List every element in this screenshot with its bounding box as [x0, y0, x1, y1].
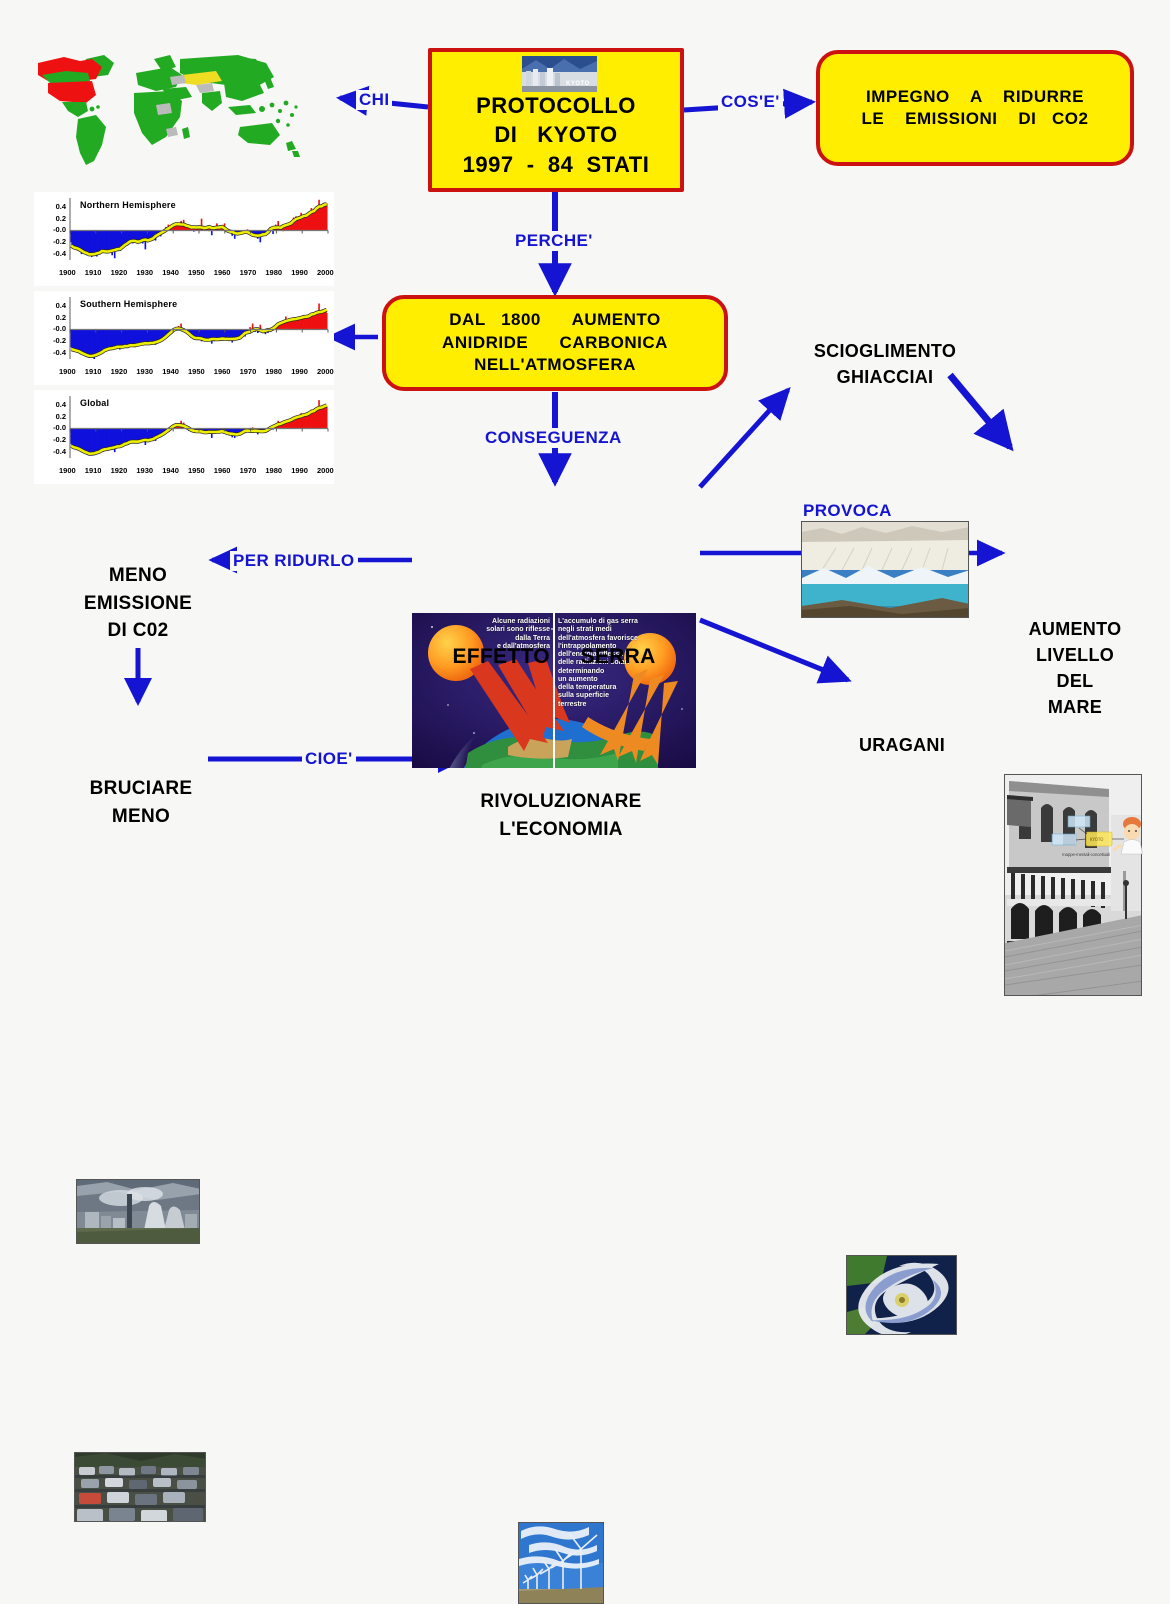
chart-0-xtick: 1970	[240, 268, 257, 277]
chart-0-xtick: 1930	[136, 268, 153, 277]
chart-0-ytick: -0.0	[34, 225, 66, 234]
commitment-line-1: IMPEGNO A RIDURRE	[866, 86, 1084, 108]
chart-2-ytick: -0.2	[34, 435, 66, 444]
climate-chart-1: Southern Hemisphere0.40.2-0.0-0.2-0.4190…	[34, 291, 334, 385]
chart-2-ytick: -0.0	[34, 423, 66, 432]
chart-2-xtick: 1940	[162, 466, 179, 475]
chart-2-xtick: 1920	[111, 466, 128, 475]
chart-1-xtick: 1980	[265, 367, 282, 376]
burn-less-image	[74, 1452, 206, 1522]
chart-2-ytick: 0.4	[34, 400, 66, 409]
chart-0-xtick: 1940	[162, 268, 179, 277]
co2-line-3: NELL'ATMOSFERA	[474, 354, 636, 376]
node-co2-increase[interactable]: DAL 1800 AUMENTO ANIDRIDE CARBONICA NELL…	[382, 295, 728, 391]
chart-0-xtick: 2000	[317, 268, 334, 277]
chart-1-xtick: 2000	[317, 367, 334, 376]
chart-1-xtick: 1920	[111, 367, 128, 376]
chart-2-xtick: 1990	[291, 466, 308, 475]
chart-plot-0	[34, 192, 334, 286]
sea-level-caption: AUMENTO LIVELLO DEL MARE	[1000, 616, 1150, 720]
chart-0-xtick: 1950	[188, 268, 205, 277]
connector-label-per-ridurlo: PER RIDURLO	[230, 551, 358, 571]
burn-less-caption: BRUCIARE MENO	[62, 775, 220, 830]
chart-1-ytick: 0.2	[34, 313, 66, 322]
chart-0-ytick: 0.2	[34, 214, 66, 223]
climate-charts-group: Northern Hemisphere0.40.2-0.0-0.2-0.4190…	[34, 192, 334, 482]
chart-0-xtick: 1960	[214, 268, 231, 277]
chart-0-xtick: 1900	[59, 268, 76, 277]
chart-2-xtick: 1950	[188, 466, 205, 475]
revolution-image	[518, 1522, 604, 1604]
chart-0-xtick: 1990	[291, 268, 308, 277]
climate-chart-2: Global0.40.2-0.0-0.2-0.41900191019201930…	[34, 390, 334, 484]
sea-level-image	[1004, 774, 1142, 996]
chart-2-xtick: 1930	[136, 466, 153, 475]
kyoto-thumbnail-image: KYOTO	[522, 56, 597, 92]
chart-title-2: Global	[80, 398, 109, 408]
chart-2-xtick: 1900	[59, 466, 76, 475]
node-commitment[interactable]: IMPEGNO A RIDURRE LE EMISSIONI DI CO2	[816, 50, 1134, 166]
world-map-image	[30, 45, 325, 175]
kyoto-line-3: 1997 - 84 STATI	[463, 150, 650, 179]
less-emissions-caption: MENO EMISSIONE DI C02	[60, 562, 216, 645]
svg-text:KYOTO: KYOTO	[1090, 837, 1103, 842]
chart-2-xtick: 1960	[214, 466, 231, 475]
chart-0-ytick: -0.4	[34, 249, 66, 258]
hurricanes-caption: URAGANI	[836, 732, 968, 758]
chart-1-ytick: -0.4	[34, 348, 66, 357]
connector-label-cioe: CIOE'	[302, 749, 356, 769]
node-kyoto-protocol[interactable]: KYOTO PROTOCOLLO DI KYOTO 1997 - 84 STAT…	[428, 48, 684, 192]
chart-2-ytick: 0.2	[34, 412, 66, 421]
glaciers-caption: SCIOGLIMENTO GHIACCIAI	[790, 338, 980, 390]
greenhouse-effect-image: Alcune radiazioni solari sono riflesse d…	[412, 613, 696, 768]
co2-line-2: ANIDRIDE CARBONICA	[442, 332, 668, 354]
connector-label-perche: PERCHE'	[512, 231, 596, 251]
chart-1-ytick: 0.4	[34, 301, 66, 310]
revolution-caption: RIVOLUZIONARE L'ECONOMIA	[470, 788, 652, 843]
chart-0-ytick: -0.2	[34, 237, 66, 246]
chart-2-xtick: 1970	[240, 466, 257, 475]
chart-1-xtick: 1910	[85, 367, 102, 376]
connector-label-chi: CHI	[356, 90, 392, 110]
watermark-caption: mappe-mentali-concettuali	[1062, 852, 1110, 857]
co2-line-1: DAL 1800 AUMENTO	[449, 309, 660, 331]
greenhouse-caption: EFFETTO SERRA	[412, 642, 696, 672]
hurricanes-image	[846, 1255, 957, 1335]
chart-1-ytick: -0.0	[34, 324, 66, 333]
chart-2-ytick: -0.4	[34, 447, 66, 456]
chart-1-xtick: 1960	[214, 367, 231, 376]
connector-label-cose: COS'E'	[718, 92, 783, 112]
commitment-line-2: LE EMISSIONI DI CO2	[862, 108, 1089, 130]
glaciers-image	[801, 521, 969, 618]
chart-title-1: Southern Hemisphere	[80, 299, 177, 309]
chart-2-xtick: 1910	[85, 466, 102, 475]
chart-plot-1	[34, 291, 334, 385]
chart-0-ytick: 0.4	[34, 202, 66, 211]
chart-0-xtick: 1920	[111, 268, 128, 277]
kyoto-line-2: DI KYOTO	[494, 120, 617, 149]
chart-2-xtick: 1980	[265, 466, 282, 475]
kyoto-thumbnail-caption: KYOTO	[566, 81, 590, 87]
chart-1-xtick: 1950	[188, 367, 205, 376]
climate-chart-0: Northern Hemisphere0.40.2-0.0-0.2-0.4190…	[34, 192, 334, 286]
chart-1-xtick: 1940	[162, 367, 179, 376]
chart-2-xtick: 2000	[317, 466, 334, 475]
concept-map-canvas: KYOTO PROTOCOLLO DI KYOTO 1997 - 84 STAT…	[0, 0, 1170, 870]
chart-1-xtick: 1990	[291, 367, 308, 376]
chart-1-xtick: 1900	[59, 367, 76, 376]
chart-plot-2	[34, 390, 334, 484]
chart-1-xtick: 1970	[240, 367, 257, 376]
kyoto-line-1: PROTOCOLLO	[476, 91, 636, 120]
chart-0-xtick: 1980	[265, 268, 282, 277]
chart-1-ytick: -0.2	[34, 336, 66, 345]
watermark-logo: KYOTO mappe-mentali-concettuali	[1050, 812, 1162, 862]
chart-0-xtick: 1910	[85, 268, 102, 277]
chart-1-xtick: 1930	[136, 367, 153, 376]
connector-label-provoca: PROVOCA	[800, 501, 895, 521]
connector-label-conseguenza: CONSEGUENZA	[482, 428, 625, 448]
less-emissions-image	[76, 1179, 200, 1244]
chart-title-0: Northern Hemisphere	[80, 200, 176, 210]
